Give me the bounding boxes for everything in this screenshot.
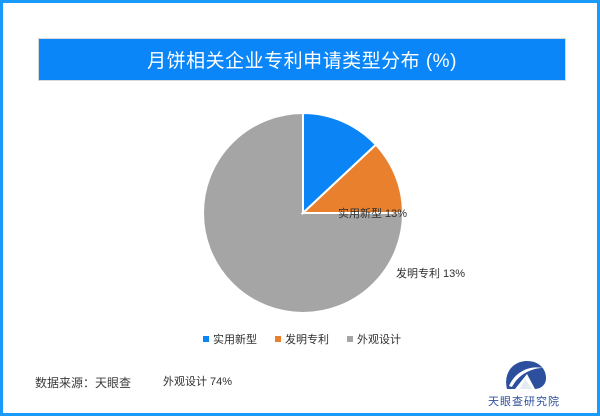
legend-item-faming[interactable]: 发明专利: [275, 331, 329, 347]
chart-title-banner: 月饼相关企业专利申请类型分布 (%): [38, 38, 566, 81]
legend-item-shiyong[interactable]: 实用新型: [203, 331, 257, 347]
tianyancha-eye-logo-icon: [501, 359, 547, 391]
legend-swatch-icon: [203, 336, 209, 342]
brand-logo: 天眼查研究院: [481, 359, 567, 409]
pie-label-waiguan: 外观设计 74%: [163, 373, 232, 389]
legend-label: 实用新型: [213, 331, 257, 347]
pie-chart: 实用新型 13% 发明专利 13% 外观设计 74% 实用新型 发明专利 外观设…: [38, 93, 566, 358]
infographic-page: 月饼相关企业专利申请类型分布 (%) 实用新型 13% 发明专利 13% 外观设…: [0, 0, 600, 416]
brand-logo-caption: 天眼查研究院: [488, 393, 560, 409]
legend-swatch-icon: [275, 336, 281, 342]
legend-swatch-icon: [347, 336, 353, 342]
legend-label: 外观设计: [357, 331, 401, 347]
data-source-note: 数据来源：天眼查: [35, 374, 131, 391]
page-title: 月饼相关企业专利申请类型分布 (%): [147, 46, 457, 73]
legend-label: 发明专利: [285, 331, 329, 347]
pie-label-shiyong: 实用新型 13%: [338, 205, 407, 221]
pie-chart-canvas: 实用新型 13% 发明专利 13% 外观设计 74%: [38, 93, 566, 328]
legend-item-waiguan[interactable]: 外观设计: [347, 331, 401, 347]
chart-legend: 实用新型 发明专利 外观设计: [38, 331, 566, 347]
pie-label-faming: 发明专利 13%: [396, 265, 465, 281]
